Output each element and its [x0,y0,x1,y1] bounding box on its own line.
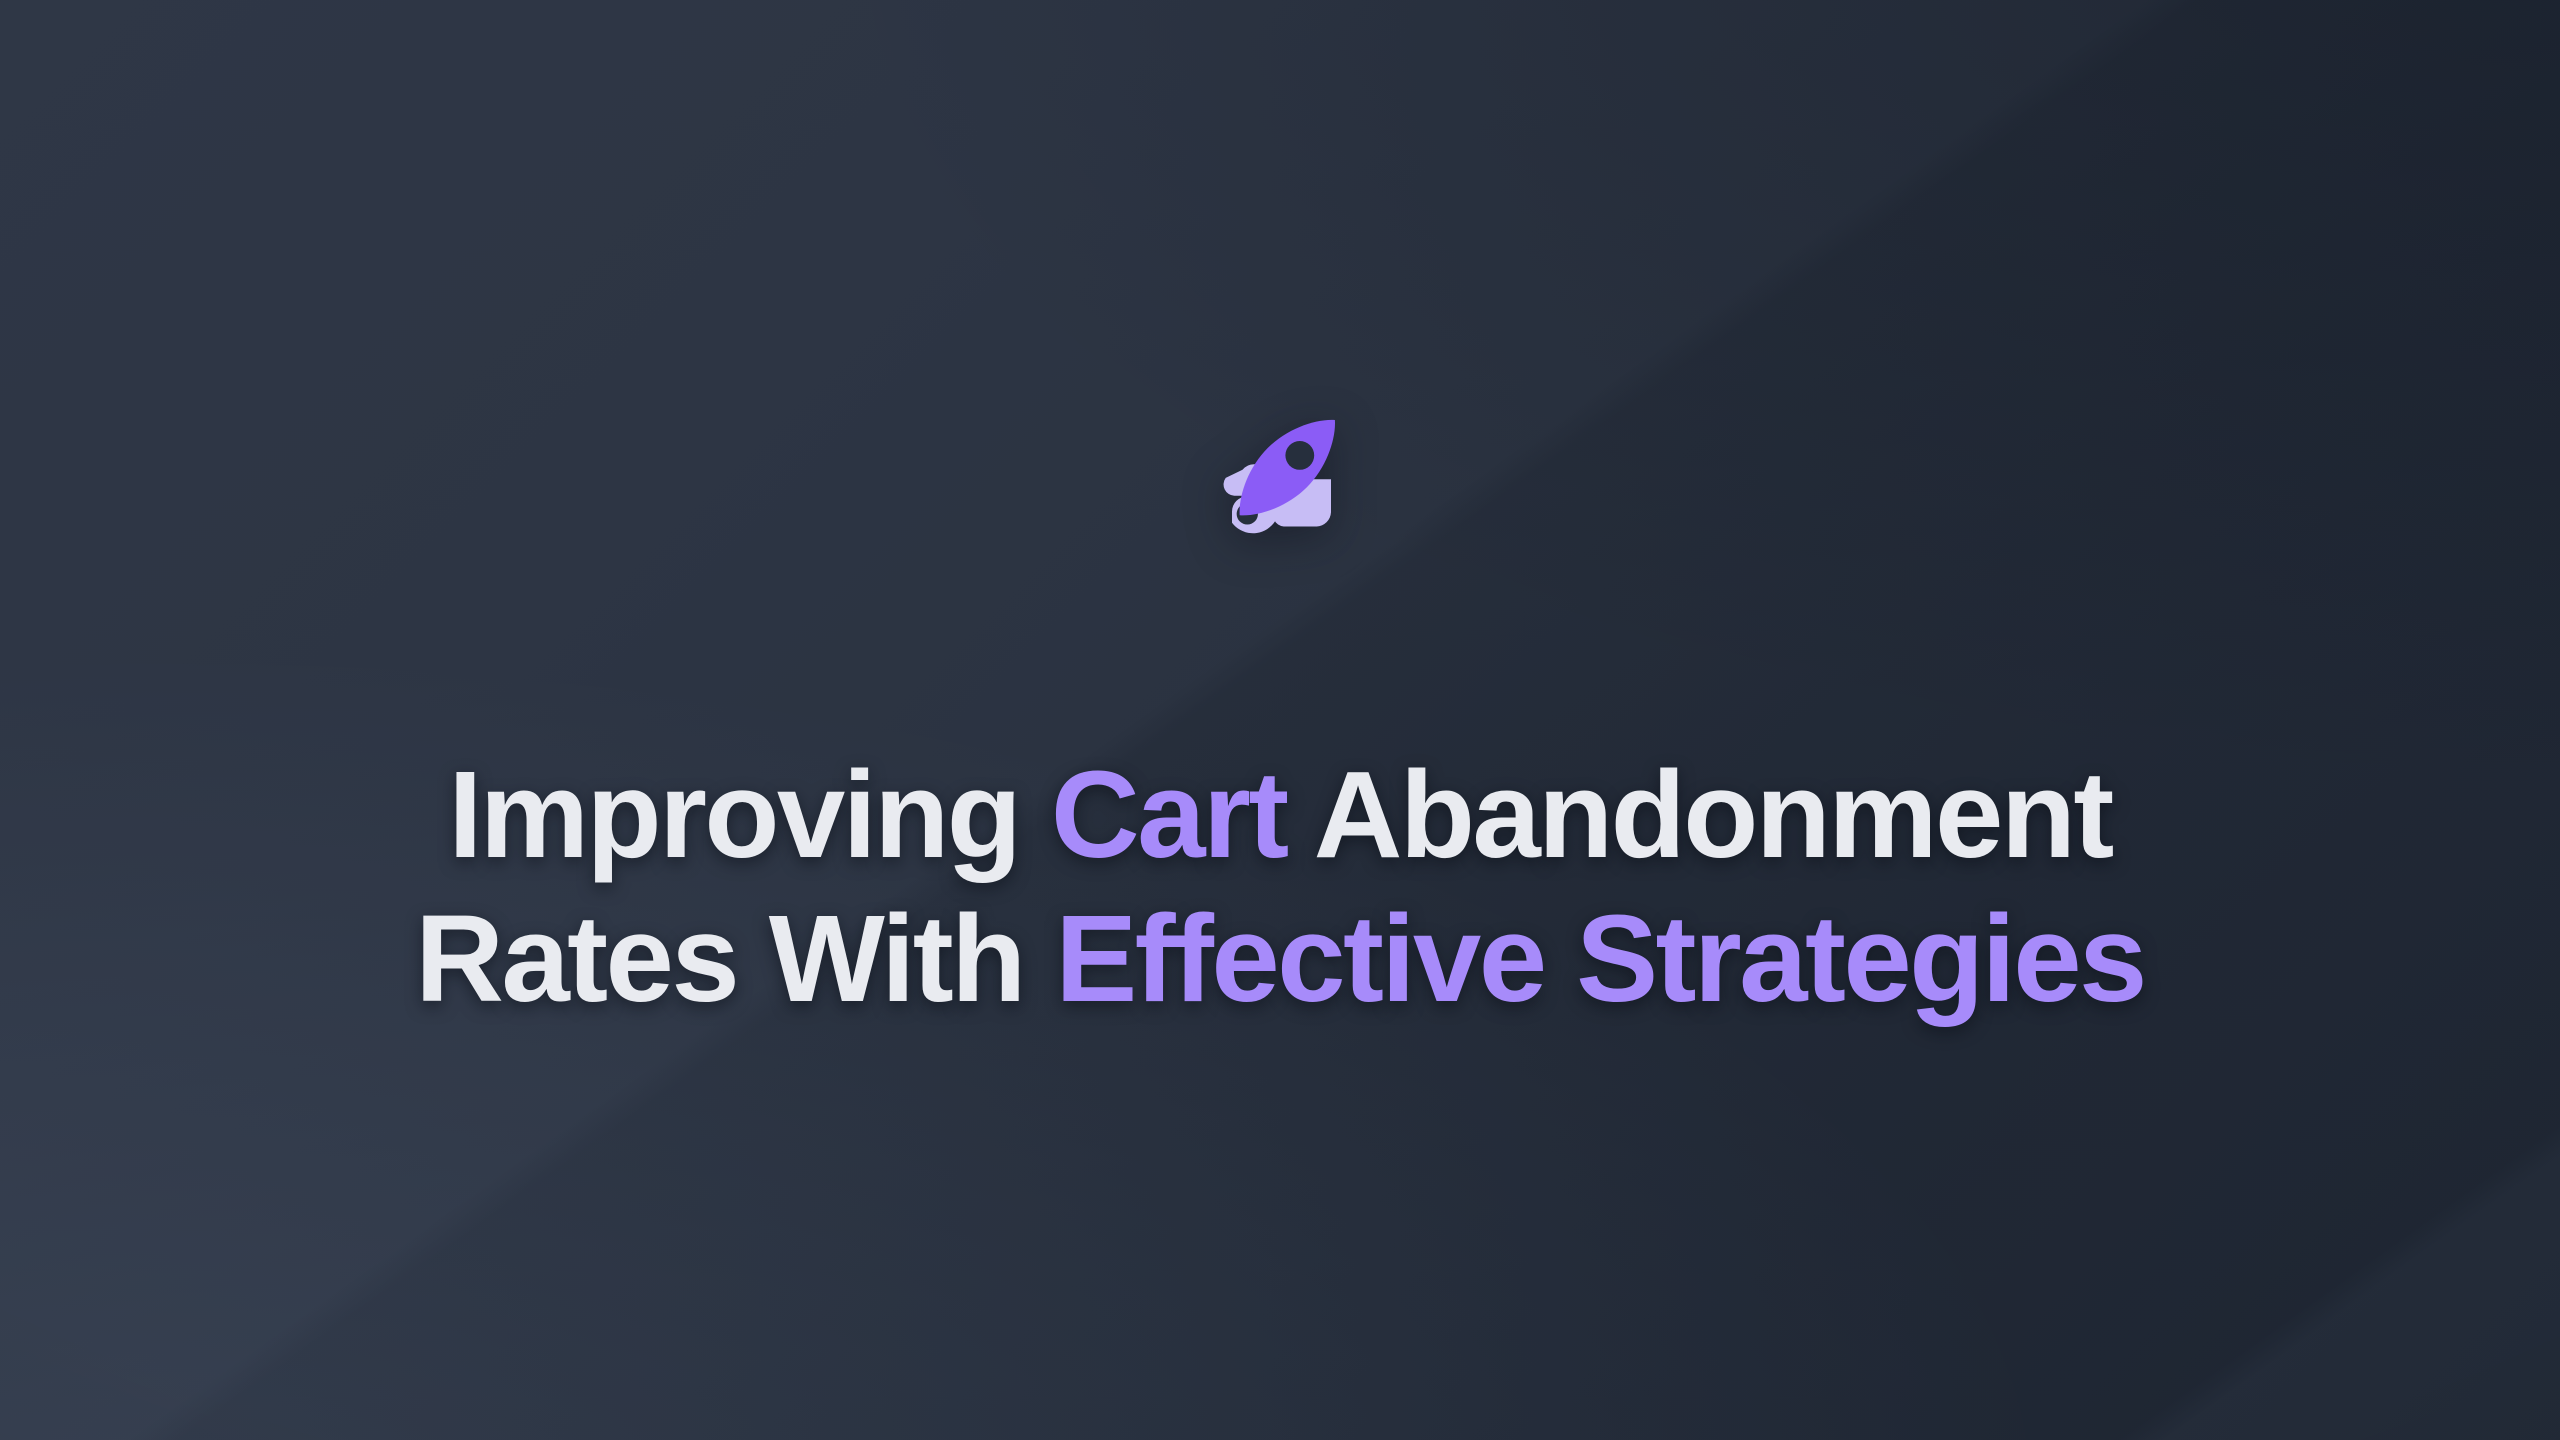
slide-content: Improving Cart Abandonment Rates With Ef… [0,0,2560,1440]
page-title-line-1-text-after: Abandonment [1287,747,2112,884]
page-title: Improving Cart Abandonment Rates With Ef… [415,744,2145,1032]
page-title-line-2: Rates With Effective Strategies [415,888,2145,1032]
page-title-line-1-text-before: Improving [448,747,1051,884]
rocket-icon [1208,408,1358,558]
page-title-line-2-accent: Effective Strategies [1055,891,2145,1028]
slide-canvas: Improving Cart Abandonment Rates With Ef… [0,0,2560,1440]
page-title-line-2-text-before: Rates With [415,891,1055,1028]
page-title-line-1: Improving Cart Abandonment [415,744,2145,888]
page-title-line-1-accent: Cart [1051,747,1287,884]
